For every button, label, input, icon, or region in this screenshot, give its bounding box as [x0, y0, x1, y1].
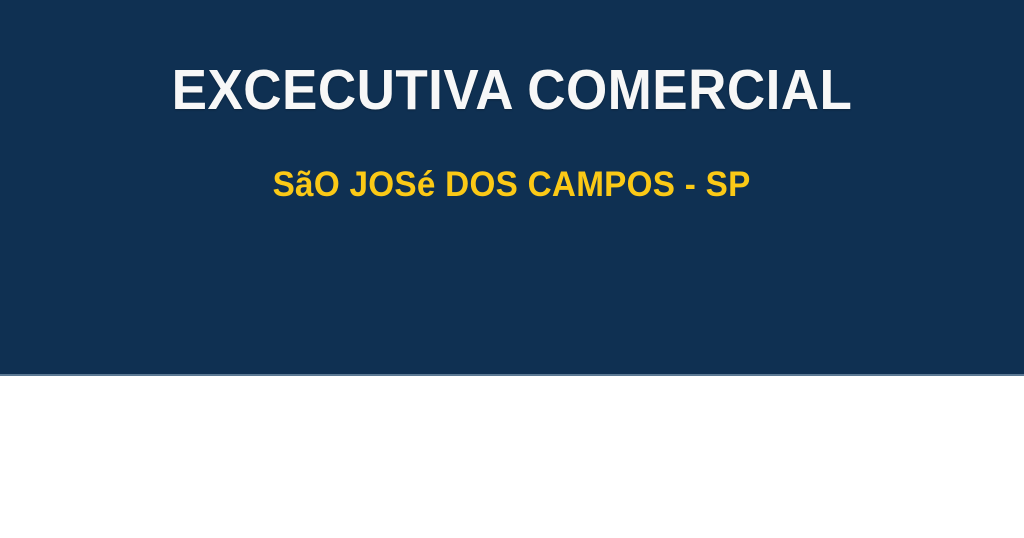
- footer-bar: CANDIDATAR-SE e EMPREGA SÃO JOSÉ: [0, 378, 1024, 538]
- page-title: EXCECUTIVA COMERCIAL: [172, 62, 853, 119]
- job-location-subtitle: SãO JOSé DOS CAMPOS - SP: [273, 167, 751, 202]
- job-posting-card: EXCECUTIVA COMERCIAL SãO JOSé DOS CAMPOS…: [0, 0, 1024, 538]
- hero-banner: EXCECUTIVA COMERCIAL SãO JOSé DOS CAMPOS…: [0, 0, 1024, 376]
